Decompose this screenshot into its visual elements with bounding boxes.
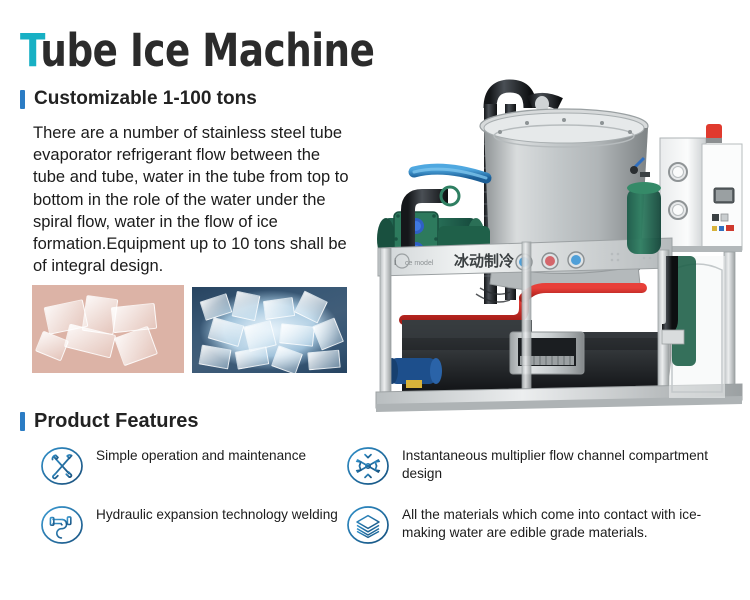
feature-label: Instantaneous multiplier flow channel co… bbox=[402, 443, 740, 483]
feature-item: Hydraulic expansion technology welding bbox=[40, 502, 346, 547]
pipe-coil-icon bbox=[40, 503, 84, 547]
feature-item: All the materials which come into contac… bbox=[346, 502, 740, 547]
layers-icon bbox=[346, 503, 390, 547]
features-heading: Product Features bbox=[20, 410, 198, 433]
features-heading-label: Product Features bbox=[34, 410, 198, 433]
feature-item: Instantaneous multiplier flow channel co… bbox=[346, 443, 740, 488]
svg-text:冰动制冷: 冰动制冷 bbox=[454, 252, 514, 270]
control-cabinet bbox=[660, 124, 742, 252]
tube-ice-pile-photo bbox=[192, 287, 347, 373]
product-banner: Tube Ice Machine Customizable 1-100 tons… bbox=[0, 0, 750, 600]
svg-text:ce model: ce model bbox=[405, 260, 434, 267]
snowflake-icon bbox=[346, 444, 390, 488]
subheading-label: Customizable 1-100 tons bbox=[34, 88, 257, 110]
page-title: Tube Ice Machine bbox=[20, 26, 374, 76]
feature-label: Simple operation and maintenance bbox=[96, 443, 306, 465]
tools-icon bbox=[40, 444, 84, 488]
page-title-lead-letter: T bbox=[20, 24, 40, 77]
feature-label: All the materials which come into contac… bbox=[402, 502, 740, 542]
feature-item: Simple operation and maintenance bbox=[40, 443, 346, 488]
subheading: Customizable 1-100 tons bbox=[20, 88, 257, 110]
feature-label: Hydraulic expansion technology welding bbox=[96, 502, 338, 524]
blue-inlet-pipe bbox=[414, 169, 486, 178]
features-grid: Simple operation and maintenance bbox=[40, 443, 740, 547]
accent-bar-icon bbox=[20, 90, 25, 109]
svg-text:i: i bbox=[394, 257, 397, 267]
hand-holding-tube-ice-photo bbox=[32, 285, 184, 373]
tube-ice-machine-photo: i ce model 冰动制冷 bbox=[372, 20, 750, 415]
accent-bar-icon bbox=[20, 412, 25, 431]
page-title-rest: ube Ice Machine bbox=[40, 24, 374, 77]
red-piping bbox=[404, 288, 672, 320]
ice-outlet-chute bbox=[510, 332, 584, 374]
description-paragraph: There are a number of stainless steel tu… bbox=[33, 122, 353, 277]
